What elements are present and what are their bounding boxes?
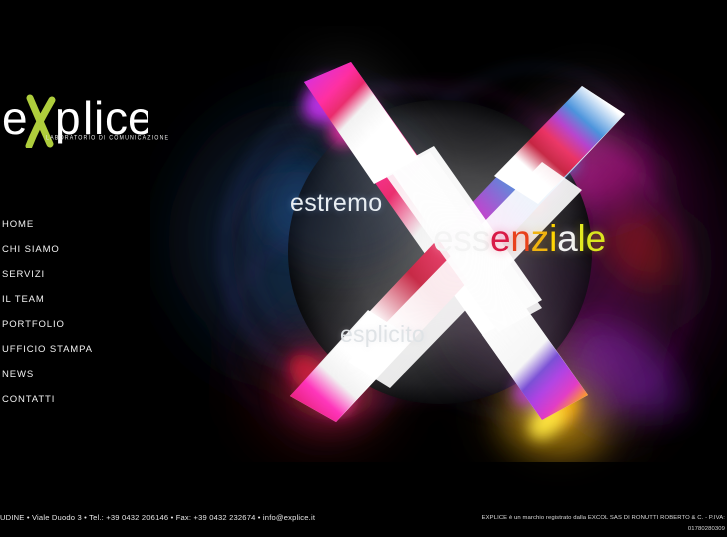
main-navigation: HOME CHI SIAMO SERVIZI IL TEAM PORTFOLIO… [0, 212, 150, 412]
site-logo[interactable]: e p l i c e LABORATORIO DI COMUNICAZIONE [0, 92, 150, 154]
page-stage: estremo essenziale esplicito e p l i c e… [0, 0, 727, 545]
footer-contact-info: UDINE • Viale Duodo 3 • Tel.: +39 0432 2… [0, 513, 315, 522]
footer-legal-info: EXPLICE è un marchio registrato dalla EX… [425, 513, 725, 535]
logo-tagline: LABORATORIO DI COMUNICAZIONE [46, 135, 169, 142]
nav-item-chi-siamo[interactable]: CHI SIAMO [0, 237, 150, 262]
nav-item-servizi[interactable]: SERVIZI [0, 262, 150, 287]
nav-item-ufficio-stampa[interactable]: UFFICIO STAMPA [0, 337, 150, 362]
bottom-white-strip [0, 537, 727, 545]
footer-legal-line1: EXPLICE è un marchio registrato dalla EX… [482, 515, 725, 521]
nav-item-contatti[interactable]: CONTATTI [0, 387, 150, 412]
nav-item-portfolio[interactable]: PORTFOLIO [0, 312, 150, 337]
nav-item-home[interactable]: HOME [0, 212, 150, 237]
explice-x-artwork [150, 0, 727, 500]
footer-vat-number: 01780280309 [425, 524, 725, 535]
hero-artwork-region: estremo essenziale esplicito [150, 0, 727, 500]
nav-item-il-team[interactable]: IL TEAM [0, 287, 150, 312]
site-footer: UDINE • Viale Duodo 3 • Tel.: +39 0432 2… [0, 507, 727, 537]
nav-item-news[interactable]: NEWS [0, 362, 150, 387]
svg-text:e: e [2, 92, 28, 144]
